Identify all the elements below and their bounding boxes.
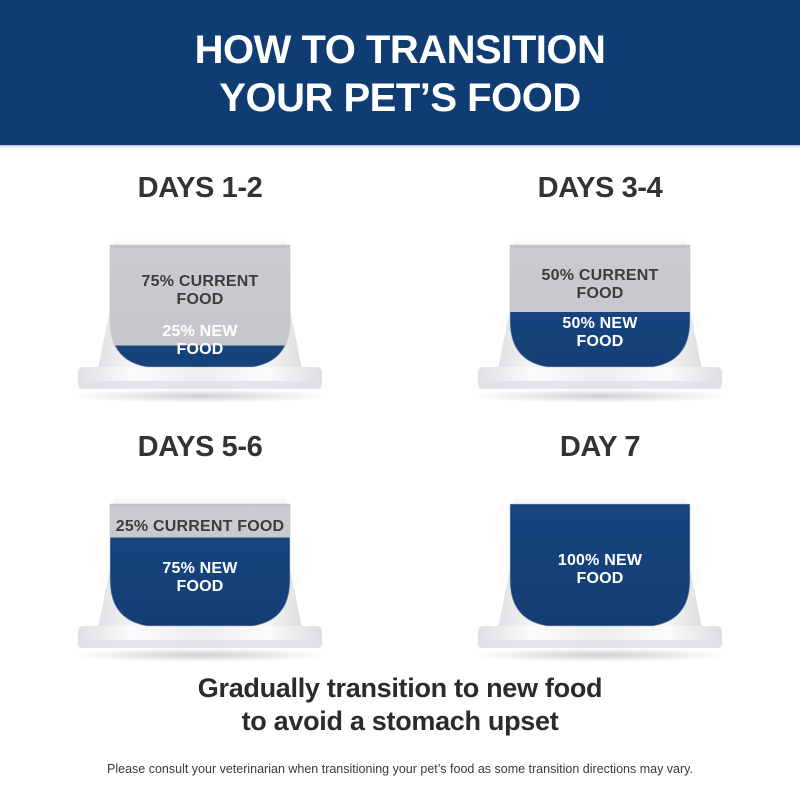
bowl-svg xyxy=(40,209,360,409)
bowl-base-shade xyxy=(78,381,322,389)
bowl-shadow xyxy=(470,648,730,662)
bowl-svg xyxy=(440,209,760,409)
bowl-svg xyxy=(440,468,760,668)
bowl-shadow xyxy=(70,648,330,662)
bowl-cavity xyxy=(100,239,300,379)
footer-headline-line1: Gradually transition to new food xyxy=(198,672,602,705)
transition-steps-grid: DAYS 1-2 xyxy=(0,152,800,670)
step-title: DAYS 3-4 xyxy=(538,172,663,205)
bowl-graphic: 25% CURRENT FOOD 75% NEW FOOD xyxy=(40,468,360,668)
header-divider xyxy=(0,145,800,148)
bowl-svg xyxy=(40,468,360,668)
step-days-3-4: DAYS 3-4 xyxy=(400,152,800,411)
bowl-base-shade xyxy=(478,640,722,648)
bowl-cavity xyxy=(500,498,700,638)
disclaimer-text: Please consult your veterinarian when tr… xyxy=(107,762,693,776)
header-title-line2: YOUR PET’S FOOD xyxy=(219,75,580,122)
bowl-shadow xyxy=(470,389,730,403)
new-food-fill xyxy=(500,504,700,638)
bowl-shadow xyxy=(70,389,330,403)
bowl-graphic: 100% NEW FOOD xyxy=(440,468,760,668)
infographic-page: HOW TO TRANSITION YOUR PET’S FOOD DAYS 1… xyxy=(0,0,800,800)
step-day-7: DAY 7 xyxy=(400,411,800,670)
step-title: DAYS 5-6 xyxy=(138,431,263,464)
footer-section: Gradually transition to new food to avoi… xyxy=(0,672,800,776)
bowl-graphic: 50% CURRENT FOOD 50% NEW FOOD xyxy=(440,209,760,409)
footer-headline-line2: to avoid a stomach upset xyxy=(242,705,559,738)
step-days-1-2: DAYS 1-2 xyxy=(0,152,400,411)
bowl-base-shade xyxy=(478,381,722,389)
header-title-line1: HOW TO TRANSITION xyxy=(195,27,606,74)
step-title: DAYS 1-2 xyxy=(138,172,263,205)
bowl-cavity xyxy=(500,239,700,379)
step-title: DAY 7 xyxy=(560,431,640,464)
bowl-base-shade xyxy=(78,640,322,648)
bowl-graphic: 75% CURRENT FOOD 25% NEW FOOD xyxy=(40,209,360,409)
header-banner: HOW TO TRANSITION YOUR PET’S FOOD xyxy=(0,0,800,145)
step-days-5-6: DAYS 5-6 xyxy=(0,411,400,670)
bowl-cavity xyxy=(100,498,300,638)
